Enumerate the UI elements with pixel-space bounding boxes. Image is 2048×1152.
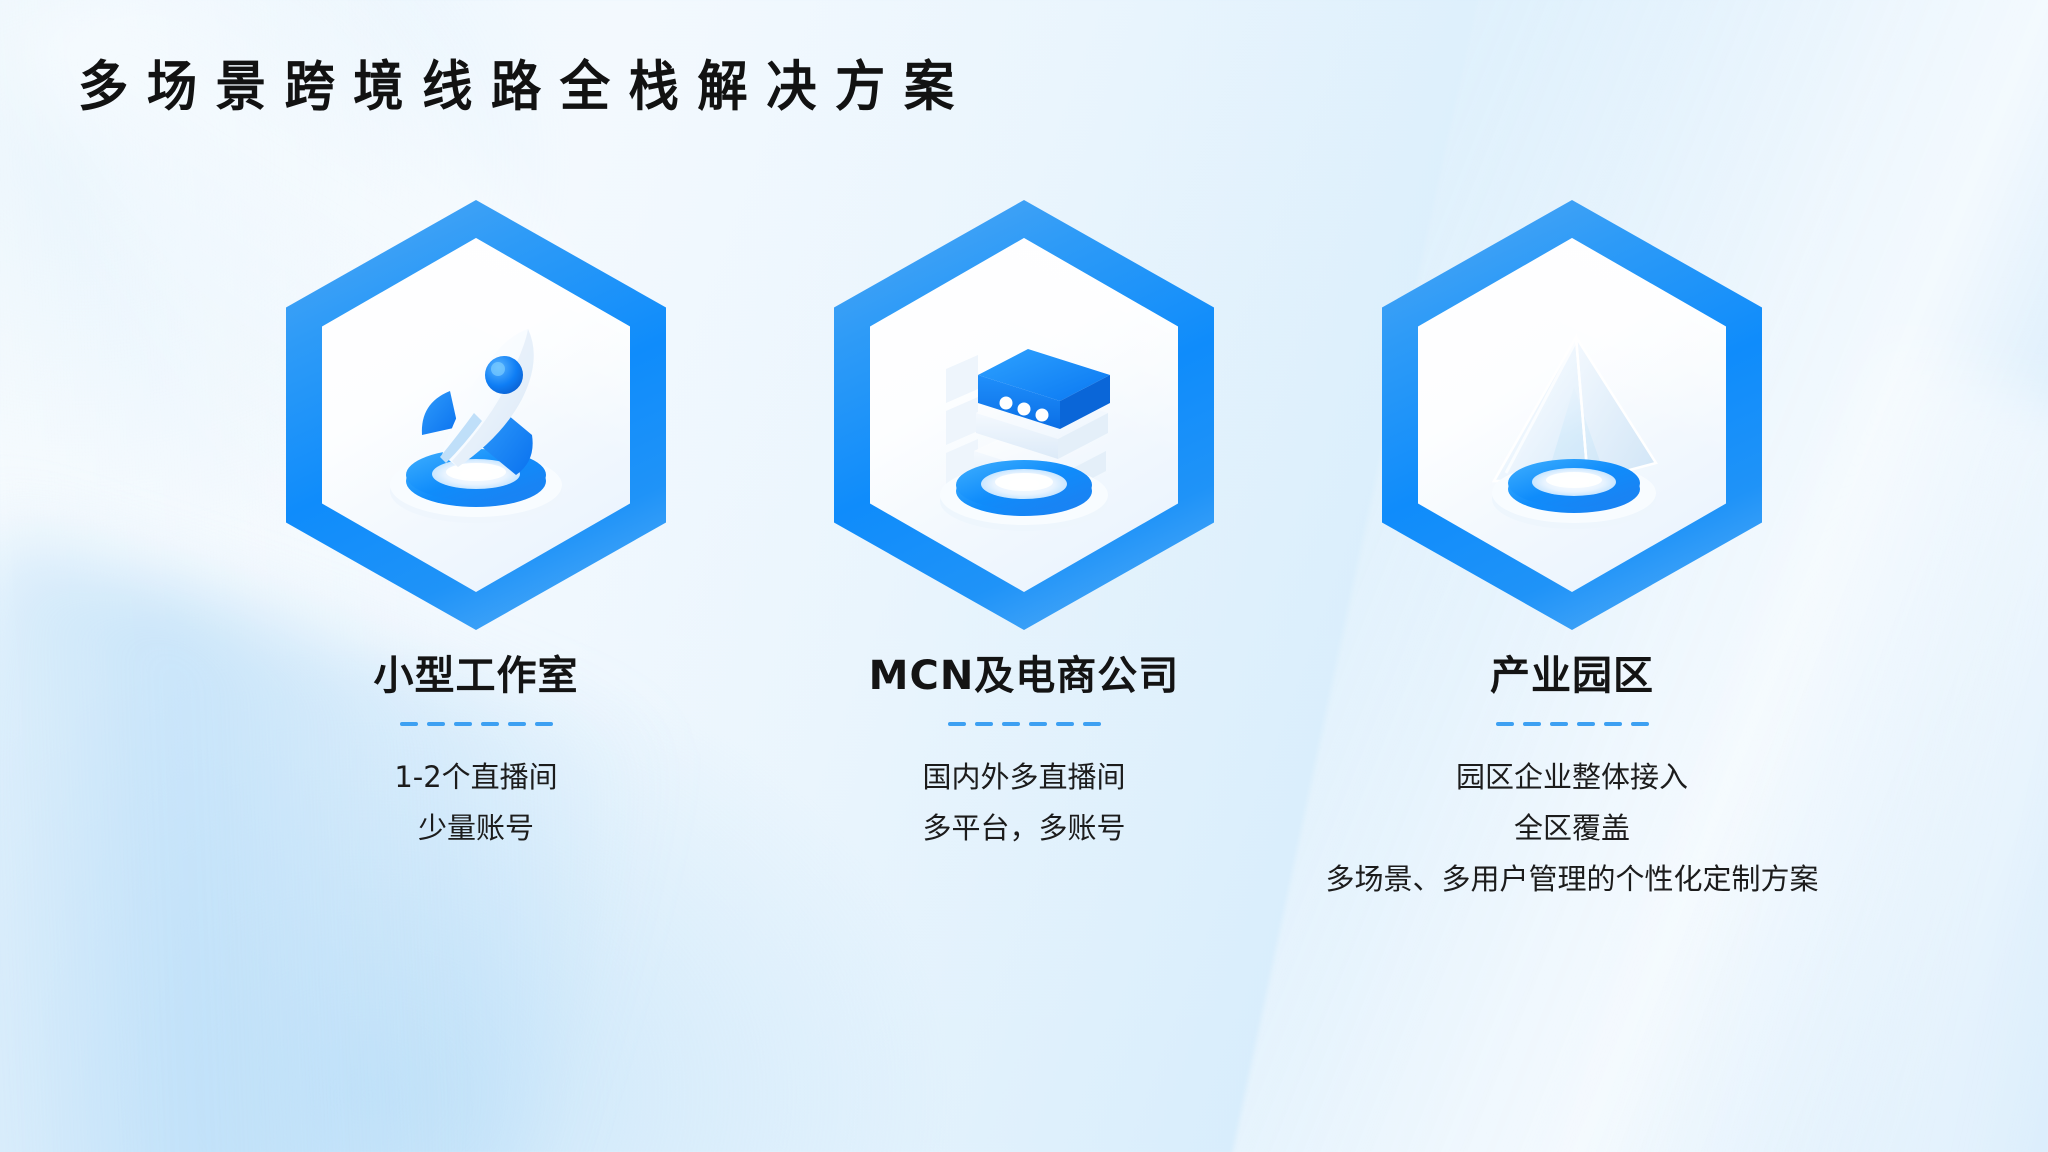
card-description-line: 少量账号 [394, 803, 557, 854]
server-stack-icon [894, 285, 1154, 545]
divider-dash [508, 722, 526, 726]
divider-dash [975, 722, 993, 726]
card-divider [1496, 722, 1649, 726]
card-description-line: 多平台，多账号 [922, 803, 1125, 854]
page-title: 多场景跨境线路全栈解决方案 [78, 56, 973, 118]
card-small-studio[interactable]: 小型工作室 1-2个直播间 少量账号 [202, 200, 750, 854]
card-description-line: 园区企业整体接入 [1325, 752, 1818, 803]
card-description-line: 全区覆盖 [1325, 803, 1818, 854]
glass-pyramid-icon [1442, 285, 1702, 545]
solution-cards-row: 小型工作室 1-2个直播间 少量账号 [0, 200, 2048, 904]
card-description-line: 1-2个直播间 [394, 752, 557, 803]
card-description: 1-2个直播间 少量账号 [394, 752, 557, 854]
divider-dash [1083, 722, 1101, 726]
card-description: 园区企业整体接入 全区覆盖 多场景、多用户管理的个性化定制方案 [1325, 752, 1818, 904]
divider-dash [1496, 722, 1514, 726]
card-mcn-ecommerce[interactable]: MCN及电商公司 国内外多直播间 多平台，多账号 [750, 200, 1298, 854]
hexagon-badge [1382, 200, 1762, 630]
card-industrial-park[interactable]: 产业园区 园区企业整体接入 全区覆盖 多场景、多用户管理的个性化定制方案 [1298, 200, 1846, 904]
divider-dash [948, 722, 966, 726]
divider-dash [454, 722, 472, 726]
divider-dash [1577, 722, 1595, 726]
card-title: MCN及电商公司 [869, 652, 1180, 700]
card-title: 小型工作室 [374, 652, 579, 700]
divider-dash [1523, 722, 1541, 726]
divider-dash [1002, 722, 1020, 726]
divider-dash [1550, 722, 1568, 726]
divider-dash [427, 722, 445, 726]
divider-dash [1029, 722, 1047, 726]
divider-dash [1631, 722, 1649, 726]
divider-dash [400, 722, 418, 726]
card-divider [948, 722, 1101, 726]
divider-dash [1056, 722, 1074, 726]
divider-dash [1604, 722, 1622, 726]
card-description: 国内外多直播间 多平台，多账号 [922, 752, 1125, 854]
hexagon-badge [286, 200, 666, 630]
divider-dash [535, 722, 553, 726]
divider-dash [481, 722, 499, 726]
rocket-icon [346, 285, 606, 545]
card-title: 产业园区 [1490, 652, 1654, 700]
card-description-line: 多场景、多用户管理的个性化定制方案 [1325, 854, 1818, 905]
card-description-line: 国内外多直播间 [922, 752, 1125, 803]
hexagon-badge [834, 200, 1214, 630]
card-divider [400, 722, 553, 726]
